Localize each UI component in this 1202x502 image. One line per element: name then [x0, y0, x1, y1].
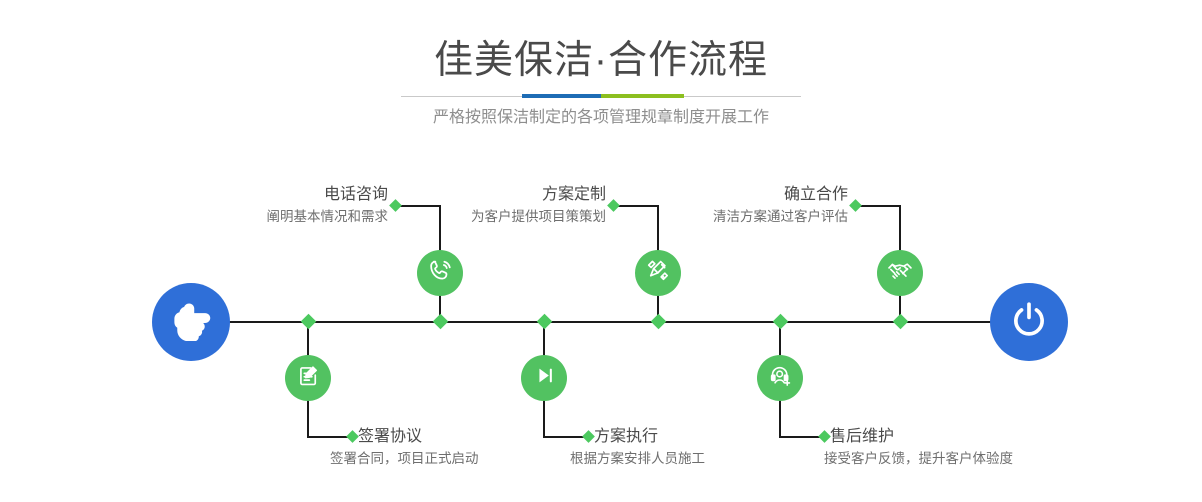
label-desc-sign-agreement: 签署合同，项目正式启动	[330, 448, 479, 470]
timeline-marker-plan-execute	[536, 313, 552, 329]
label-sign-agreement: 签署协议 签署合同，项目正式启动	[358, 426, 479, 470]
timeline-marker-after-sales	[772, 313, 788, 329]
timeline-marker-establish-coop	[892, 313, 908, 329]
label-marker-sign-agreement	[346, 430, 359, 443]
label-desc-establish-coop: 清洁方案通过客户评估	[460, 206, 848, 228]
page-header: 佳美保洁·合作流程 严格按照保洁制定的各项管理规章制度开展工作	[0, 0, 1202, 145]
label-title-sign-agreement: 签署协议	[358, 426, 479, 448]
step-icon-plan-custom[interactable]	[635, 250, 681, 296]
step-icon-establish-coop[interactable]	[877, 250, 923, 296]
title-divider	[401, 94, 801, 98]
divider-segment-green	[601, 94, 684, 98]
divider-segment-blue	[522, 94, 601, 98]
label-title-establish-coop: 确立合作	[460, 184, 848, 206]
play-skip-icon	[532, 363, 557, 393]
label-title-plan-execute: 方案执行	[594, 426, 705, 448]
document-edit-icon	[295, 362, 322, 394]
step-icon-sign-agreement[interactable]	[285, 355, 331, 401]
page-subtitle: 严格按照保洁制定的各项管理规章制度开展工作	[0, 106, 1202, 130]
timeline-marker-sign-agreement	[300, 313, 316, 329]
phone-call-icon	[427, 257, 454, 289]
label-desc-after-sales: 接受客户反馈，提升客户体验度	[824, 448, 1013, 470]
timeline-marker-phone-consult	[432, 313, 448, 329]
timeline-marker-plan-custom	[650, 313, 666, 329]
step-icon-plan-execute[interactable]	[521, 355, 567, 401]
label-plan-execute: 方案执行 根据方案安排人员施工	[594, 426, 705, 470]
step-icon-phone-consult[interactable]	[417, 250, 463, 296]
label-title-after-sales: 售后维护	[830, 426, 1013, 448]
timeline-start-node[interactable]	[152, 283, 230, 361]
label-marker-establish-coop	[849, 199, 862, 212]
pointing-hand-icon	[170, 299, 212, 346]
power-icon	[1008, 299, 1050, 346]
handshake-icon	[886, 257, 914, 290]
label-desc-plan-execute: 根据方案安排人员施工	[570, 448, 705, 470]
label-marker-plan-execute	[582, 430, 595, 443]
headset-add-icon	[767, 362, 794, 394]
process-timeline: 电话咨询 阐明基本情况和需求 签署协议 签署合同，项目正式启动	[0, 150, 1202, 502]
label-after-sales: 售后维护 接受客户反馈，提升客户体验度	[830, 426, 1013, 470]
step-icon-after-sales[interactable]	[757, 355, 803, 401]
label-marker-after-sales	[818, 430, 831, 443]
pencil-ruler-icon	[645, 257, 672, 289]
page-title: 佳美保洁·合作流程	[0, 36, 1202, 86]
timeline-end-node[interactable]	[990, 283, 1068, 361]
